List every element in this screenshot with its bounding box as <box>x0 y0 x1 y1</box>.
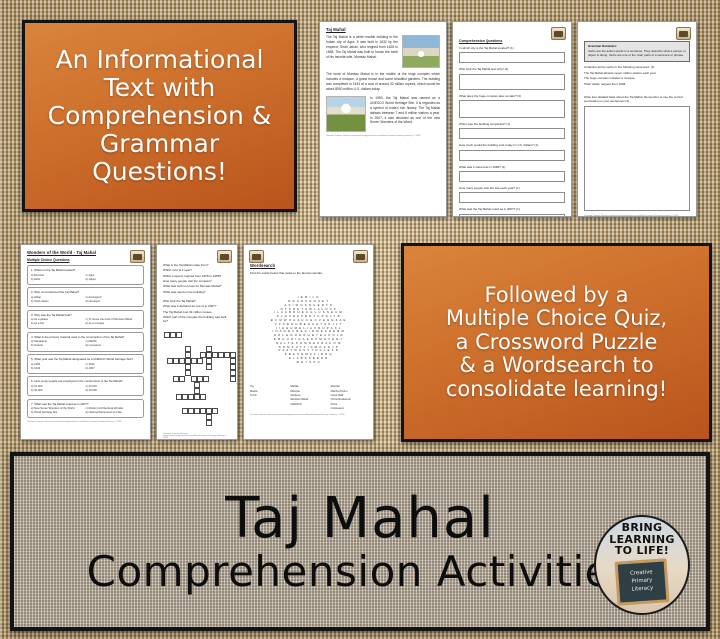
comprehension-question-6: What was it named as in 1983? (1) <box>459 165 565 182</box>
grammar-task-1: Underline all the verbs in the following… <box>584 65 690 69</box>
promo-bottom-line-1: Followed by a <box>446 284 667 308</box>
comprehension-question-5: How much would the building cost today i… <box>459 143 565 160</box>
promo-top-line-4: Grammar <box>48 130 272 158</box>
grammar-sentence-2[interactable]: The huge complex includes a mosque. <box>584 76 690 80</box>
crossword-clue-6: What was used on the building? <box>163 290 231 294</box>
crossword-clue-8: What was it declared as one of in 2007? <box>163 304 231 308</box>
wordsearch-words-column-1: Taj Mahal Tomb <box>250 385 286 411</box>
grammar-credit: Creative Primary Literacy www.teacherspa… <box>584 215 690 217</box>
crossword-clue-7: Who built the Taj Mahal? <box>163 299 231 303</box>
grammar-task-2: Write four detailed facts about the Taj … <box>584 95 690 104</box>
comprehension-title: Comprehension Questions <box>459 39 565 43</box>
grammar-sentence-1[interactable]: The Taj Mahal attracts seven million vis… <box>584 71 690 75</box>
taj-mahal-garden-photo <box>326 96 366 132</box>
comprehension-question-7: How many people visit the site each year… <box>459 186 565 203</box>
promo-top-line-3: Comprehension & <box>48 102 272 130</box>
answer-box-8[interactable] <box>459 214 565 217</box>
promo-top-line-2: Text with <box>48 74 272 102</box>
answer-box-2[interactable] <box>459 74 565 90</box>
promo-bottom-line-5: consolidate learning! <box>446 378 667 402</box>
wordsearch-grid[interactable]: I E M I L D R D U E S E N U E T A S I M … <box>257 278 361 382</box>
quiz-question-2[interactable]: 2. Who commissioned the Taj Mahal? a) Ak… <box>27 287 144 307</box>
info-text-title: Taj Mahal <box>326 27 440 32</box>
crossword-clue-4: How many people visit the complex? <box>163 279 231 283</box>
quiz-question-4[interactable]: 4. What is the primary material used in … <box>27 332 144 352</box>
crossword-clue-5: What was built to house for Mumtaz Mahal… <box>163 284 231 288</box>
crossword-clue-1: What is the Taj Mahal made from? <box>163 263 231 267</box>
quiz-question-7[interactable]: 7. What was the Taj Mahal voted as in 20… <box>27 399 144 419</box>
info-text-credit: Creative Primary Literacy www.teacherspa… <box>326 135 440 137</box>
worksheet-multiple-choice-quiz[interactable]: Wonders of the World - Taj Mahal Multipl… <box>20 244 151 440</box>
wordsearch-words-column-2: Marble Mosque Gardens Mumtaz Mahal UNESC… <box>290 385 326 411</box>
wordsearch-instruction: Find the words below that relate to the … <box>250 271 367 275</box>
promo-bottom-line-4: & a Wordsearch to <box>446 354 667 378</box>
quiz-question-5[interactable]: 5. What year was the Taj Mahal designate… <box>27 354 144 374</box>
publisher-logo-badge[interactable]: BRING LEARNING TO LIFE! Creative Primary… <box>594 515 690 615</box>
wordsearch-words-column-3: Wonder Machu Picchu Great Wall Christ Re… <box>331 385 367 411</box>
worksheet-information-text[interactable]: Taj Mahal The Taj Mahal is a white marbl… <box>319 21 447 217</box>
comprehension-question-1: In which city is the Taj Mahal located? … <box>459 46 565 63</box>
crossword-clue-10: Which part of the complex the building w… <box>163 315 231 324</box>
info-text-paragraph-3: In 1983, the Taj Mahal was named as a UN… <box>370 96 440 132</box>
quiz-question-3[interactable]: 3. Why was the Taj Mahal built? a) As a … <box>27 310 144 330</box>
crossword-clue-3: Which emperor reigned from 1628 to 1658? <box>163 274 231 278</box>
worksheet-crossword[interactable]: What is the Taj Mahal made from? Which r… <box>156 244 238 440</box>
grammar-answer-box[interactable] <box>584 106 690 211</box>
info-text-paragraph-1: The Taj Mahal is a white marble building… <box>326 35 398 68</box>
title-banner: Taj Mahal Comprehension Activities BRING… <box>10 452 710 631</box>
answer-box-3[interactable] <box>459 100 565 118</box>
crossword-grid[interactable] <box>163 330 231 430</box>
page-title: Taj Mahal <box>225 491 495 547</box>
taj-mahal-front-photo <box>402 35 440 68</box>
logo-board-line-3: Literacy <box>631 585 653 594</box>
promo-top-line-5: Questions! <box>48 158 272 186</box>
crossword-clue-9: The Taj Mahal cost 32 million rupees. <box>163 310 231 314</box>
logo-line-3: TO LIFE! <box>615 545 669 557</box>
grammar-reminder-text: Verbs are the action words in a sentence… <box>588 49 686 58</box>
publisher-stamp-icon <box>249 250 264 263</box>
quiz-question-6[interactable]: 6. How many people are employed in the c… <box>27 376 144 396</box>
comprehension-question-2: Who built the Taj Mahal and why? (2) <box>459 67 565 89</box>
promo-bottom-line-3: a Crossword Puzzle <box>446 331 667 355</box>
quiz-subtitle: Multiple Choice Questions <box>27 258 144 262</box>
worksheet-grammar[interactable]: Grammar Reminder: Verbs are the action w… <box>577 21 697 217</box>
publisher-stamp-icon <box>130 250 145 263</box>
promo-bottom-text: Followed by a Multiple Choice Quiz, a Cr… <box>446 284 667 402</box>
promo-panel-bottom: Followed by a Multiple Choice Quiz, a Cr… <box>401 243 712 442</box>
comprehension-question-3: What does the huge complex also contain?… <box>459 94 565 118</box>
wordsearch-title: Wordsearch <box>250 263 367 268</box>
publisher-stamp-icon <box>551 27 566 40</box>
answer-box-7[interactable] <box>459 192 565 203</box>
worksheet-wordsearch[interactable]: Wordsearch Find the words below that rel… <box>243 244 374 440</box>
info-text-paragraph-2: The tomb of Mumtaz Mahal is in the middl… <box>326 72 440 92</box>
promo-panel-top: An Informational Text with Comprehension… <box>22 20 297 212</box>
crossword-clue-2: Which river is it near? <box>163 268 231 272</box>
comprehension-question-4: When was the building completed? (1) <box>459 122 565 139</box>
promo-top-line-1: An Informational <box>48 46 272 74</box>
quiz-credit: Creative Primary Literacy www.teacherspa… <box>27 421 144 423</box>
publisher-stamp-icon <box>217 250 232 263</box>
grammar-reminder-title: Grammar Reminder: <box>588 44 686 48</box>
crossword-credit: Creative Primary Literacy www.teacherspa… <box>163 433 231 439</box>
wordsearch-credit: Creative Primary Literacy www.teacherspa… <box>250 414 367 416</box>
answer-box-5[interactable] <box>459 150 565 161</box>
promo-bottom-line-2: Multiple Choice Quiz, <box>446 307 667 331</box>
wordsearch-word-list: Taj Mahal Tomb Marble Mosque Gardens Mum… <box>250 385 367 411</box>
quiz-title: Wonders of the World - Taj Mahal <box>27 250 144 255</box>
grammar-sentence-3[interactable]: Shah Jahan reigned from 1628. <box>584 82 690 86</box>
publisher-stamp-icon <box>353 250 368 263</box>
publisher-stamp-icon <box>676 27 691 40</box>
chalkboard-icon: Creative Primary Literacy <box>615 558 670 606</box>
worksheet-comprehension-questions[interactable]: Comprehension Questions In which city is… <box>452 21 572 217</box>
page-subtitle: Comprehension Activities <box>87 551 634 593</box>
logo-line-1: BRING <box>622 522 663 534</box>
answer-box-1[interactable] <box>459 52 565 63</box>
promo-top-text: An Informational Text with Comprehension… <box>48 46 272 186</box>
comprehension-question-8: What was the Taj Mahal voted as in 2007?… <box>459 207 565 217</box>
quiz-question-1[interactable]: 1. Where is the Taj Mahal located? a) Mu… <box>27 265 144 285</box>
grammar-reminder-box: Grammar Reminder: Verbs are the action w… <box>584 41 690 62</box>
answer-box-6[interactable] <box>459 171 565 182</box>
answer-box-4[interactable] <box>459 128 565 139</box>
